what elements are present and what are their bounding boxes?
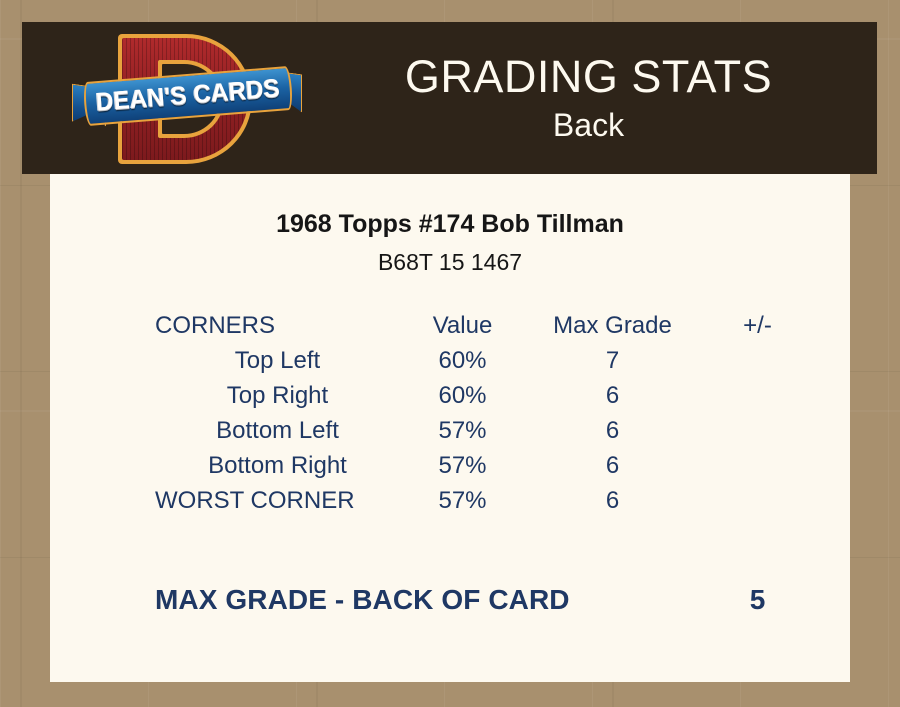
- max-grade-label: MAX GRADE - BACK OF CARD: [155, 584, 700, 616]
- grading-stats-table: CORNERS Value Max Grade +/- Top Left60%7…: [155, 308, 815, 518]
- logo-ribbon-banner: DEAN'S CARDS: [72, 70, 302, 126]
- max-grade-value: 5: [700, 584, 815, 616]
- cell-corner-label: WORST CORNER: [155, 483, 400, 518]
- cell-max-grade: 6: [525, 378, 700, 413]
- max-grade-summary-row: MAX GRADE - BACK OF CARD 5: [155, 584, 815, 616]
- cell-corner-label: Bottom Right: [155, 448, 400, 483]
- cell-value: 60%: [400, 378, 525, 413]
- cell-plus-minus: [700, 483, 815, 518]
- table-header: CORNERS Value Max Grade +/-: [155, 308, 815, 343]
- cell-corner-label: Top Left: [155, 343, 400, 378]
- logo-wordmark: DEAN'S CARDS: [95, 74, 281, 118]
- cell-value: 60%: [400, 343, 525, 378]
- cell-max-grade: 6: [525, 483, 700, 518]
- logo-ribbon-body: DEAN'S CARDS: [83, 66, 294, 126]
- cell-value: 57%: [400, 448, 525, 483]
- cell-value: 57%: [400, 483, 525, 518]
- table-row: Bottom Left57%6: [155, 413, 815, 448]
- table-body: Top Left60%7Top Right60%6Bottom Left57%6…: [155, 343, 815, 518]
- cell-max-grade: 6: [525, 413, 700, 448]
- cell-value: 57%: [400, 413, 525, 448]
- card-code: B68T 15 1467: [50, 249, 850, 276]
- cell-plus-minus: [700, 413, 815, 448]
- page-title: GRADING STATS: [405, 53, 772, 100]
- table-row: Top Right60%6: [155, 378, 815, 413]
- table-row: Bottom Right57%6: [155, 448, 815, 483]
- header-title-block: GRADING STATS Back: [300, 22, 877, 174]
- table-row: Top Left60%7: [155, 343, 815, 378]
- page-subtitle: Back: [553, 108, 624, 143]
- table-header-row: CORNERS Value Max Grade +/-: [155, 308, 815, 343]
- cell-max-grade: 7: [525, 343, 700, 378]
- cell-plus-minus: [700, 343, 815, 378]
- cell-corner-label: Top Right: [155, 378, 400, 413]
- card-title: 1968 Topps #174 Bob Tillman: [50, 210, 850, 239]
- cell-plus-minus: [700, 448, 815, 483]
- column-header-value: Value: [400, 308, 525, 343]
- column-header-corners: CORNERS: [155, 308, 400, 343]
- cell-corner-label: Bottom Left: [155, 413, 400, 448]
- deans-cards-logo: DEAN'S CARDS: [72, 30, 302, 166]
- column-header-plus-minus: +/-: [700, 308, 815, 343]
- column-header-max-grade: Max Grade: [525, 308, 700, 343]
- content-panel: 1968 Topps #174 Bob Tillman B68T 15 1467…: [50, 174, 850, 682]
- table-row: WORST CORNER57%6: [155, 483, 815, 518]
- cell-plus-minus: [700, 378, 815, 413]
- cell-max-grade: 6: [525, 448, 700, 483]
